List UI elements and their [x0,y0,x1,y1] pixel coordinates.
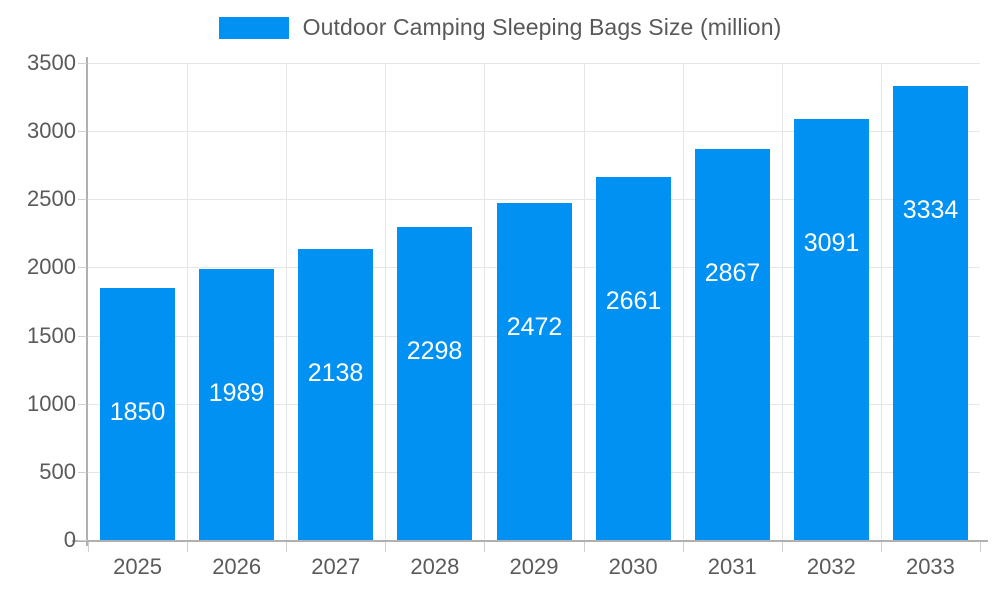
x-axis-tick-label-2030: 2030 [584,556,683,578]
bar-2032[interactable] [794,119,869,540]
y-axis-tick-label: 2000 [4,256,76,278]
y-gridline [88,63,980,64]
y-axis-tick-mark [78,540,87,541]
bar-2029[interactable] [497,203,572,540]
y-axis-tick-label: 1500 [4,325,76,347]
x-axis-tick-label-2033: 2033 [881,556,980,578]
legend-item-outdoor-camping-sleeping-bags-size[interactable]: Outdoor Camping Sleeping Bags Size (mill… [219,14,782,41]
x-axis-tick-label-2029: 2029 [484,556,583,578]
x-axis-tick-mark [584,542,585,552]
x-axis-tick-mark [286,542,287,552]
x-gridline [584,63,585,540]
x-axis-tick-mark [484,542,485,552]
x-axis-tick-mark [980,542,981,552]
plot-area: 185019892138229824722661286730913334 [88,63,980,540]
bar-2031[interactable] [695,149,770,540]
x-axis-tick-mark [683,542,684,552]
x-axis-line [72,540,988,542]
x-gridline [286,63,287,540]
x-gridline [484,63,485,540]
y-axis-tick-label: 3000 [4,120,76,142]
y-axis-tick-mark [78,63,87,64]
x-axis-tick-label-2028: 2028 [385,556,484,578]
y-axis-tick-label: 0 [4,529,76,551]
chart-legend: Outdoor Camping Sleeping Bags Size (mill… [0,0,1000,55]
x-axis-tick-mark [881,542,882,552]
x-gridline [881,63,882,540]
y-axis-tick-labels: 0500100015002000250030003500 [0,0,76,600]
y-axis-tick-mark [78,199,87,200]
x-axis-tick-mark [782,542,783,552]
bar-2030[interactable] [596,177,671,540]
y-axis-tick-label: 3500 [4,52,76,74]
x-axis-tick-label-2025: 2025 [88,556,187,578]
x-axis-tick-label-2027: 2027 [286,556,385,578]
bar-2028[interactable] [397,227,472,540]
x-axis-tick-mark [88,542,89,552]
x-axis-tick-label-2026: 2026 [187,556,286,578]
bar-2025[interactable] [100,288,175,540]
bar-chart: Outdoor Camping Sleeping Bags Size (mill… [0,0,1000,600]
x-axis-tick-mark [187,542,188,552]
x-axis-tick-mark [385,542,386,552]
y-axis-tick-mark [78,404,87,405]
y-axis-tick-label: 500 [4,461,76,483]
x-gridline [187,63,188,540]
bar-2027[interactable] [298,249,373,540]
x-gridline [782,63,783,540]
x-axis-tick-label-2032: 2032 [782,556,881,578]
legend-color-swatch-icon [219,17,289,39]
y-axis-tick-mark [78,267,87,268]
x-axis-tick-label-2031: 2031 [683,556,782,578]
y-axis-tick-mark [78,131,87,132]
bar-2033[interactable] [893,86,968,540]
legend-label: Outdoor Camping Sleeping Bags Size (mill… [303,14,782,41]
y-axis-tick-label: 2500 [4,188,76,210]
y-axis-tick-mark [78,472,87,473]
x-gridline [683,63,684,540]
y-axis-tick-mark [78,336,87,337]
x-gridline [385,63,386,540]
bar-2026[interactable] [199,269,274,540]
y-axis-tick-label: 1000 [4,393,76,415]
